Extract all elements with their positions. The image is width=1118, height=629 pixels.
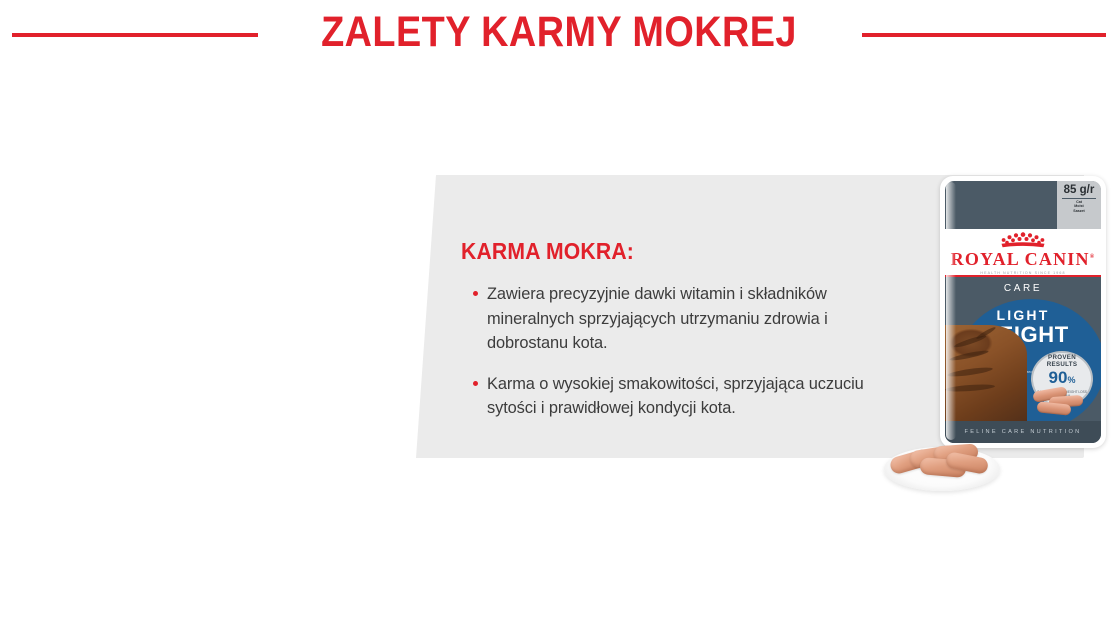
list-item: Zawiera precyzyjnie dawki witamin i skła…	[470, 282, 910, 356]
page-title: ZALETY KARMY MOKREJ	[67, 9, 1051, 55]
weight-value: 85 g/r	[1062, 184, 1097, 199]
pouch-inner: 85 g/r CatMoistSaszet	[945, 181, 1101, 443]
brand-name: ROYAL CANIN®	[945, 248, 1101, 269]
bullet-dot-icon	[473, 381, 478, 386]
card-heading: KARMA MOKRA:	[461, 238, 634, 264]
badge-percent: 90%	[1049, 369, 1076, 389]
weight-sublabel: CatMoistSaszet	[1073, 200, 1084, 213]
food-chunks-on-pack	[1031, 387, 1097, 417]
benefits-list: Zawiera precyzyjnie dawki witamin i skła…	[470, 282, 910, 421]
food-plate	[884, 437, 1000, 493]
list-item: Karma o wysokiej smakowitości, sprzyjają…	[470, 372, 910, 421]
page-root: ZALETY KARMY MOKREJ KARMA MOKRA: Zawiera…	[0, 0, 1118, 629]
pouch-outer: 85 g/r CatMoistSaszet	[940, 176, 1106, 448]
badge-title: PROVEN RESULTS	[1033, 354, 1091, 368]
product-package: 85 g/r CatMoistSaszet	[940, 176, 1106, 448]
pouch-top-band: 85 g/r CatMoistSaszet	[945, 181, 1101, 229]
range-label: CARE	[945, 283, 1101, 294]
list-item-text: Karma o wysokiej smakowitości, sprzyjają…	[487, 375, 864, 418]
page-header: ZALETY KARMY MOKREJ	[0, 0, 1118, 70]
brand-block: ROYAL CANIN® HEALTH NUTRITION SINCE 1968	[945, 229, 1101, 277]
crown-icon	[995, 232, 1051, 248]
trademark-symbol: ®	[1090, 254, 1096, 260]
product-line-1: LIGHT	[945, 307, 1101, 323]
cat-photo	[945, 325, 1027, 421]
pouch-body: CARE LIGHT WEIGHT Helps limit weight gai…	[945, 277, 1101, 443]
weight-panel: 85 g/r CatMoistSaszet	[1057, 181, 1101, 229]
bullet-dot-icon	[473, 291, 478, 296]
list-item-text: Zawiera precyzyjnie dawki witamin i skła…	[487, 285, 828, 352]
